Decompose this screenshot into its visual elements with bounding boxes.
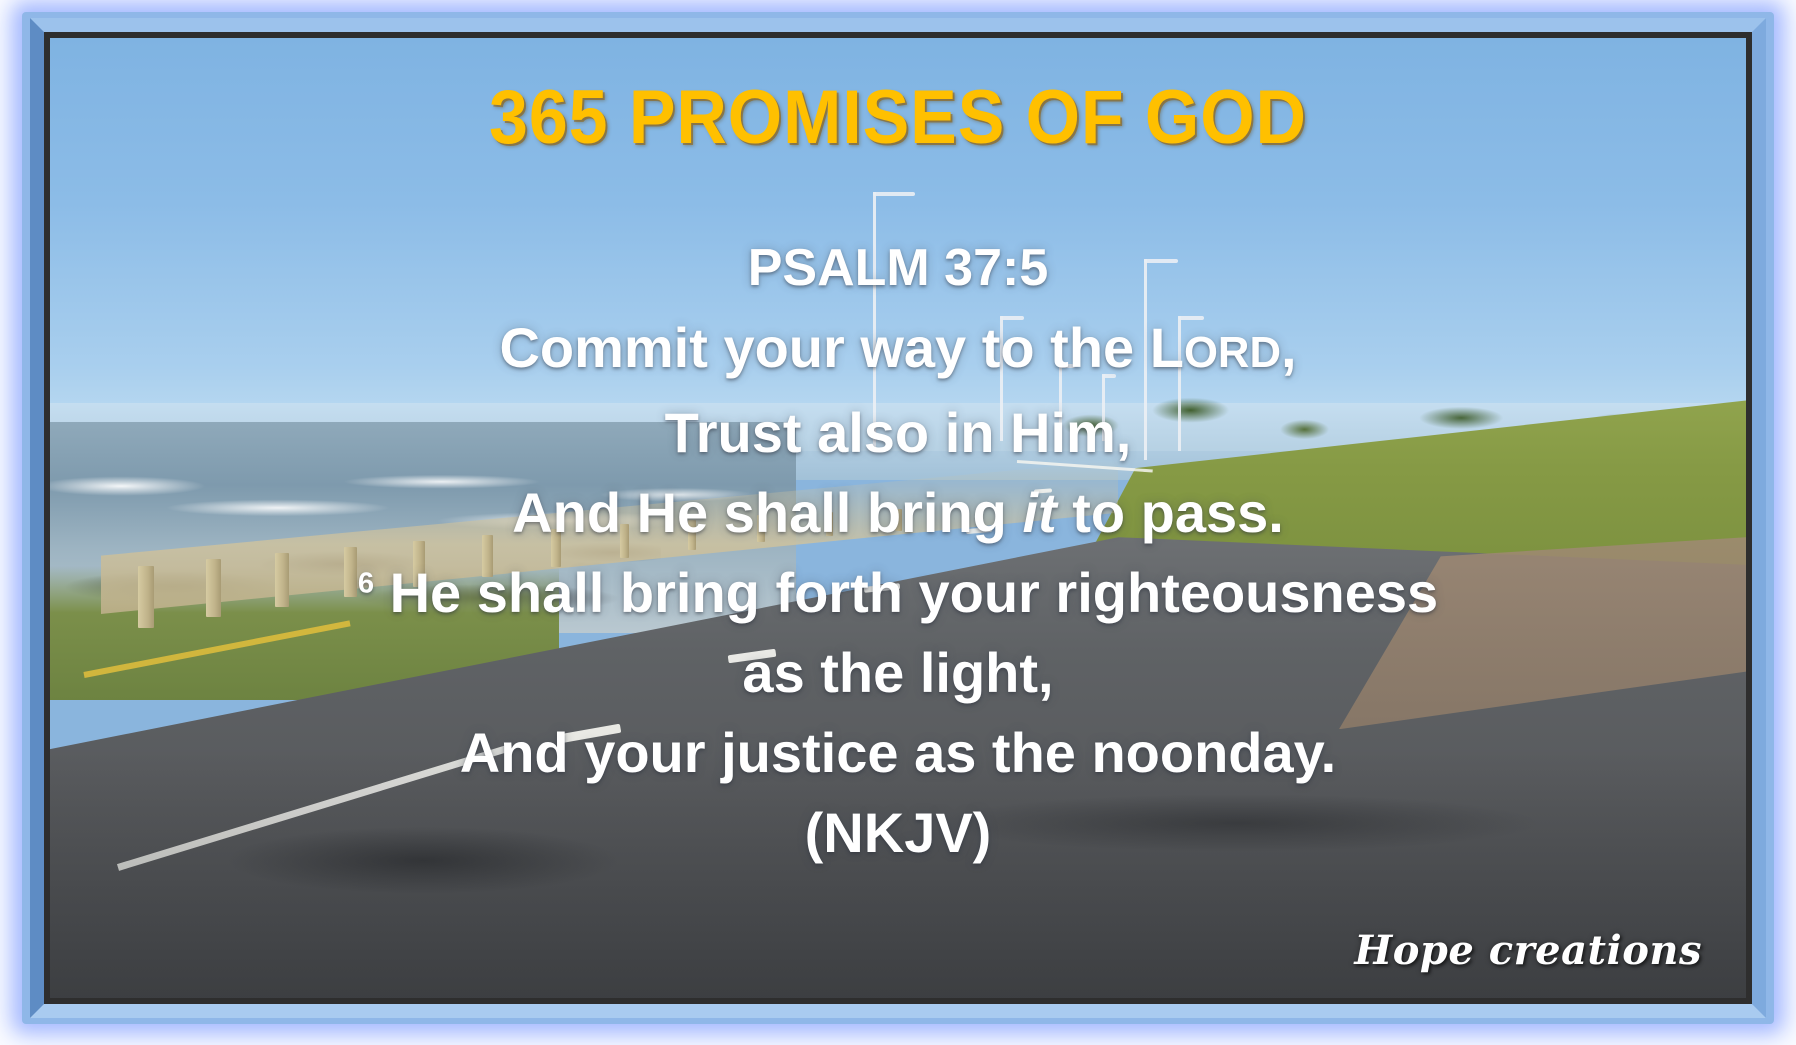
verse-number-superscript: 6 [358, 567, 374, 599]
verse-translation: (NKJV) [50, 793, 1746, 873]
verse-line-3: And He shall bring it to pass. [50, 473, 1746, 553]
watermark-signature: Hope creations [1354, 927, 1702, 974]
verse-line-3-pre: And He shall bring [512, 481, 1022, 544]
slide-stage: 365 PROMISES OF GOD PSALM 37:5 Commit yo… [0, 0, 1796, 1045]
lord-smallcaps: ORD [1184, 328, 1281, 377]
verse-line-5: as the light, [50, 633, 1746, 713]
verse-line-1-post: , [1281, 316, 1297, 379]
verse-line-4-text: He shall bring forth your righteousness [374, 561, 1438, 624]
verse-line-4: 6 He shall bring forth your righteousnes… [50, 553, 1746, 633]
text-overlay: 365 PROMISES OF GOD PSALM 37:5 Commit yo… [50, 38, 1746, 998]
verse-line-1: Commit your way to the LORD, [50, 308, 1746, 393]
verse-line-1-pre: Commit your way to the [499, 316, 1149, 379]
verse-line-3-post: to pass. [1057, 481, 1284, 544]
verse-line-6: And your justice as the noonday. [50, 713, 1746, 793]
verse-line-2: Trust also in Him, [50, 393, 1746, 473]
verse-block: PSALM 37:5 Commit your way to the LORD, … [50, 228, 1746, 873]
verse-line-3-italic: it [1022, 481, 1056, 544]
page-title: 365 PROMISES OF GOD [118, 74, 1678, 161]
verse-reference: PSALM 37:5 [50, 228, 1746, 308]
background-photo: 365 PROMISES OF GOD PSALM 37:5 Commit yo… [50, 38, 1746, 998]
lord-initial: L [1150, 316, 1184, 379]
